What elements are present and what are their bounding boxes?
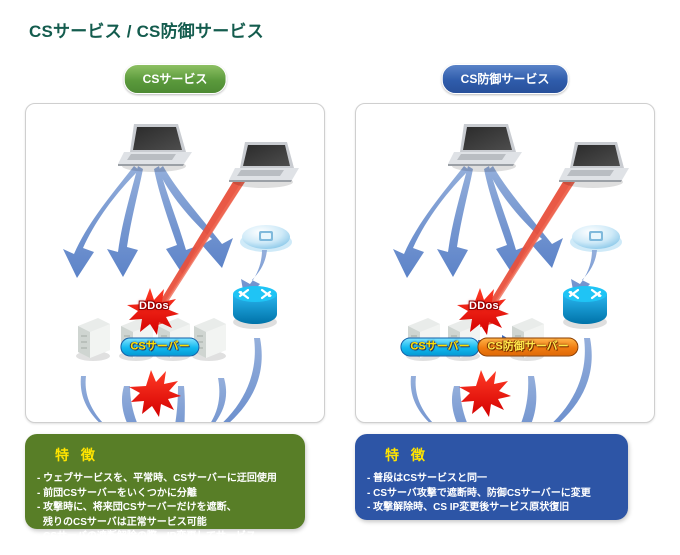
laptop-icon-right-1 [448, 124, 522, 172]
burst-icon-right-bottom [459, 370, 511, 417]
panel-cs-defense-service: CS防御サービス [355, 64, 655, 529]
feature-item: - ウェブサービスを、平常時、CSサーバーに迂回使用 [37, 472, 293, 487]
router-icon-right [563, 286, 607, 329]
defense-server-label-right: CS防御サーバー [477, 337, 578, 356]
diagram-graphics-left [26, 104, 324, 422]
panel-header-cs-service: CSサービス [124, 64, 227, 94]
router-icon-left [233, 286, 277, 329]
feature-box-cs-defense-service: 特 徴 - 普段はCSサービスと同一 - CSサーバ攻撃で遮断時、防御CSサーバ… [355, 434, 628, 520]
feature-item: - 攻撃時に、将来団CSサーバーだけを遮断、 [37, 501, 293, 516]
laptop-icon-right-2 [559, 142, 629, 188]
ddos-label-right: DDos [469, 300, 499, 312]
panel-cs-service: CSサービス [25, 64, 325, 529]
cloud-icon-right [570, 225, 622, 252]
feature-list-right: - 普段はCSサービスと同一 - CSサーバ攻撃で遮断時、防御CSサーバーに変更… [367, 472, 616, 516]
laptop-icon-left-1 [118, 124, 192, 172]
feature-item: - 普段はCSサービスと同一 [367, 472, 616, 487]
diagram-graphics-right [356, 104, 654, 422]
feature-item: - CSサーバの遮断解除の際、IP変更してサービス [37, 530, 293, 545]
cs-server-label-left: CSサーバー [120, 337, 199, 356]
feature-item: - CSサーバ攻撃で遮断時、防御CSサーバーに変更 [367, 487, 616, 502]
cloud-icon-left [240, 225, 292, 252]
laptop-icon-left-2 [229, 142, 299, 188]
feature-item: - 前団CSサーバーをいくつかに分離 [37, 487, 293, 502]
page-title: CSサービス / CS防御サービス [29, 17, 264, 42]
feature-list-left: - ウェブサービスを、平常時、CSサーバーに迂回使用 - 前団CSサーバーをいく… [37, 472, 293, 545]
feature-title-right: 特 徴 [385, 445, 616, 465]
cs-server-label-right: CSサーバー [400, 337, 479, 356]
diagram-cs-service: DDos CSサーバー [25, 103, 325, 423]
feature-item: - 攻撃解除時、CS IP変更後サービス原状復旧 [367, 501, 616, 516]
diagram-cs-defense-service: DDos CSサーバー CS防御サーバー [355, 103, 655, 423]
burst-icon-left-bottom [129, 370, 181, 417]
panel-header-cs-defense-service: CS防御サービス [442, 64, 569, 94]
feature-box-cs-service: 特 徴 - ウェブサービスを、平常時、CSサーバーに迂回使用 - 前団CSサーバ… [25, 434, 305, 529]
feature-title-left: 特 徴 [55, 445, 293, 465]
ddos-label-left: DDos [139, 300, 169, 312]
feature-item: 残りのCSサーバは正常サービス可能 [37, 516, 293, 531]
